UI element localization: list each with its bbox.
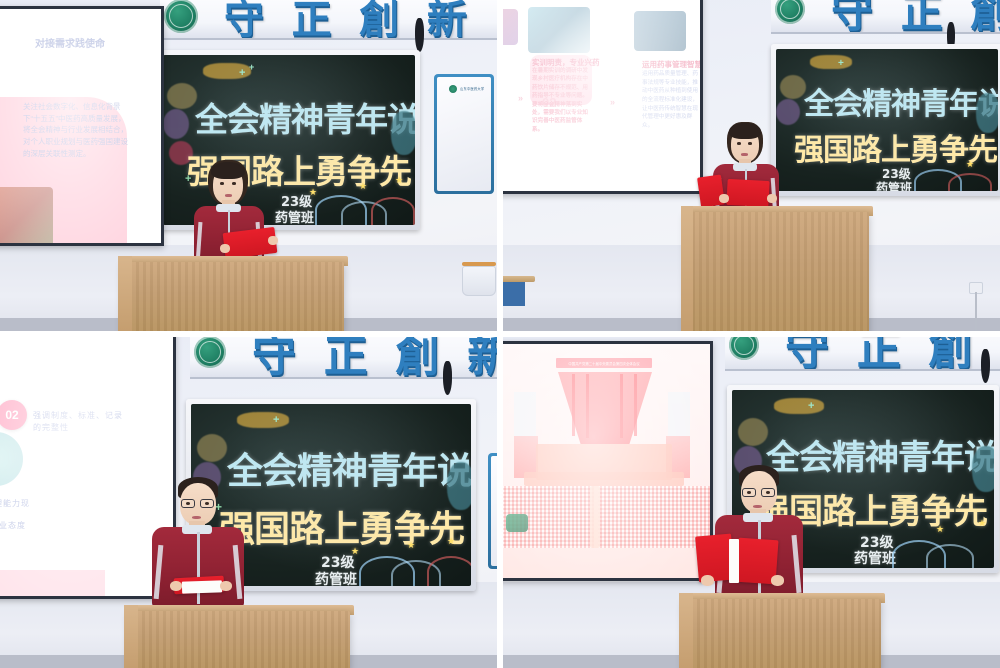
presenter-paper (182, 580, 222, 593)
chalk-blob (197, 434, 227, 462)
banner-char-2: 正 (857, 337, 903, 371)
slide-circle-graphic (0, 432, 23, 486)
slide-photo (634, 11, 686, 51)
chalk-blob (738, 418, 768, 446)
blackboard-class-name: 药管班 (854, 548, 896, 568)
chalk-star: ★ (351, 546, 359, 557)
hall-curtain-fold (620, 374, 623, 438)
microphone-hook-icon (415, 18, 424, 52)
chalk-star: ★ (395, 175, 403, 186)
notice-board[interactable] (488, 453, 497, 569)
slide-top-left: 对接需求践使命 关注社会数字化、信息化背景下“十五五”中医药高质量发展，将全会精… (0, 9, 161, 243)
hall-curtain-fold (634, 374, 637, 436)
side-desk-leg (503, 282, 525, 306)
wall-sink (462, 266, 496, 296)
presenter-mouth (192, 516, 201, 519)
wall-banner: 守 正 創 新 (160, 0, 497, 40)
chalk-blob (810, 55, 852, 69)
presenter-eye-left (220, 182, 224, 185)
microphone-hook-icon (981, 349, 990, 383)
chalk-star: ★ (447, 536, 455, 547)
blackboard-headline-1: 全会精神青年说 (227, 442, 471, 494)
banner-char-1: 守 (224, 0, 266, 40)
chalk-wave (315, 195, 367, 225)
chalk-wave (892, 540, 946, 568)
chalk-wave (371, 197, 415, 225)
projection-screen: 中国共产党第二十届中央委员会第四次全体会议 (503, 341, 713, 581)
wall-banner: 守 正 創 新 (725, 337, 1000, 371)
blackboard: + 全会精神青年说 强国路上勇争先 23级 药管班 ★ (771, 44, 1000, 196)
blackboard-class-year: 23级 (321, 552, 354, 572)
congress-banner-text: 中国共产党第二十届中央委员会第四次全体会议 (568, 361, 639, 366)
chalk-plus: + (838, 58, 844, 69)
blackboard-headline-2: 强国路上勇争先 (794, 125, 997, 169)
presenter-hand-left (719, 194, 729, 203)
blackboard-headline-1: 全会精神青年说 (195, 93, 415, 141)
lectern (683, 599, 881, 668)
chalk-plus: + (249, 62, 254, 72)
presenter-bottom-right (703, 465, 813, 601)
hall-stage-step (524, 472, 684, 486)
presenter-hand-left (701, 575, 714, 586)
chalk-star: ★ (359, 181, 367, 192)
presenter-paper (729, 539, 739, 583)
blackboard-class-name: 药管班 (315, 569, 357, 586)
banner-char-2: 正 (901, 0, 945, 34)
notice-board[interactable]: 山东中医药大学 (434, 74, 494, 194)
blackboard-headline-2: 强国路上勇争先 (219, 500, 464, 552)
school-emblem-icon (194, 337, 226, 368)
presenter-top-left (186, 160, 272, 270)
chalk-wave (427, 556, 471, 586)
lectern-notch (118, 256, 132, 331)
collage-panel-bottom-right[interactable]: 守 正 創 新 + 全会精神青年说 强国路上勇争先 23级 药管班 ★ ★ (503, 337, 1000, 668)
wall-banner: 守 正 創 新 (771, 0, 1000, 34)
presenter-eye-right (232, 182, 236, 185)
chalk-blob (167, 83, 197, 109)
blackboard-class-year: 23级 (882, 165, 911, 182)
photo-collage: 守 正 創 新 + + + 全会精神青年说 强国路上勇争先 23级 药管班 (0, 0, 1000, 668)
slide-photo (528, 7, 590, 53)
presenter-hand-right (220, 581, 232, 591)
chalk-blob (203, 63, 251, 79)
chalk-blob (237, 412, 289, 428)
presenter-eye-left (747, 491, 751, 494)
presenter-mouth (741, 153, 748, 156)
collage-panel-bottom-left[interactable]: 守 正 創 新 + + 全会精神青年说 强国路上勇争先 23级 药管班 ★ (0, 337, 497, 668)
notice-board-title: 山东中医药大学 (460, 86, 484, 91)
broadcast-logo (506, 514, 528, 532)
chalk-star: ★ (978, 518, 986, 529)
banner-char-1: 守 (252, 337, 298, 379)
lectern-notch (679, 593, 693, 668)
lectern (122, 262, 344, 331)
chalk-wave (359, 556, 415, 586)
banner-char-1: 守 (785, 337, 831, 371)
slide-photo (0, 187, 53, 246)
banner-char-3: 創 (929, 337, 975, 371)
slide-title: 对接需求践使命 (35, 35, 105, 50)
chalk-blob (976, 93, 998, 133)
chalk-wave (948, 173, 992, 191)
lectern-notch (124, 605, 138, 668)
lectern (685, 212, 869, 331)
blackboard-headline-1: 全会精神青年说 (804, 79, 998, 123)
presenter-eye-right (205, 502, 209, 505)
presenter-bottom-left (142, 477, 252, 607)
hall-aisle (590, 486, 600, 548)
presenter-mouth (225, 194, 232, 197)
slide-left-badge: 02 (542, 93, 556, 113)
chalk-star: ★ (936, 524, 944, 535)
slide-side-text-2: …专业态度 (0, 520, 26, 532)
chalk-blob (972, 446, 994, 492)
wall-cable (975, 292, 977, 331)
banner-char-4: 新 (467, 337, 497, 379)
chalk-star: ★ (309, 187, 317, 198)
presenter-hand-right (268, 236, 278, 245)
chalk-blob (774, 398, 824, 414)
banner-char-3: 創 (970, 0, 1000, 34)
presenter-folder-right (726, 179, 769, 207)
presenter-top-right (703, 122, 789, 218)
chalk-wave (341, 201, 387, 225)
chalk-star: ★ (966, 159, 974, 170)
hall-curtain-fold (572, 374, 575, 436)
lectern (128, 611, 350, 668)
blackboard-class-year: 23级 (281, 191, 312, 210)
chalk-wave (391, 560, 441, 586)
presenter-eye-right (766, 491, 770, 494)
slide-right-body: 运用药品质量管理、药事法规等专业技能，推动中医药从种植到使用的全流程标准化建设，… (642, 70, 698, 131)
banner-char-4: 新 (427, 0, 469, 40)
chalk-wave (926, 544, 974, 568)
blackboard-class-year: 23级 (860, 532, 893, 552)
banner-char-2: 正 (324, 337, 370, 379)
blackboard-class-name: 药管班 (876, 179, 912, 191)
presenter-hand-right (771, 575, 784, 586)
slide-photo (503, 9, 518, 45)
chalk-plus: + (239, 67, 245, 79)
collage-panel-top-right[interactable]: 守 正 創 新 + 全会精神青年说 强国路上勇争先 23级 药管班 ★ (503, 0, 1000, 331)
banner-char-3: 創 (396, 337, 442, 379)
banner-char-1: 守 (831, 0, 875, 34)
presenter-hand-left (170, 581, 182, 591)
chevron-right-icon: » (518, 93, 523, 103)
chalk-blob (391, 111, 415, 155)
chalk-plus: + (808, 400, 814, 412)
banner-char-3: 創 (359, 0, 401, 40)
school-emblem-icon (729, 337, 759, 360)
projection-screen: 对接需求践使命 关注社会数字化、信息化背景下“十五五”中医药高质量发展，将全会精… (0, 6, 164, 246)
chalk-blob (163, 109, 189, 139)
projection-screen: 实训明责，专业兴药 在暑期实训的调研中发现乡村医疗机构存在中药饮片储存不规范、用… (503, 0, 703, 194)
presenter-eye-left (737, 142, 741, 145)
slide-body: 关注社会数字化、信息化背景下“十五五”中医药高质量发展，将全会精神与行业发展相结… (23, 101, 131, 159)
chevron-right-icon: » (610, 97, 615, 107)
slide-left-body: 在暑期实训的调研中发现乡村医疗机构存在中药饮片储存不规范、用药指导不专业等问题。… (532, 67, 590, 134)
school-emblem-icon (775, 0, 805, 24)
chalk-star: ★ (407, 540, 415, 551)
slide-right-heading: 运用药事管理智慧 (642, 59, 702, 70)
hall-side-panel (514, 392, 536, 442)
school-emblem-icon (164, 0, 198, 33)
slide-heading: 强调制度、标准、记录的完整性 (33, 410, 123, 434)
presenter-hair (729, 123, 761, 139)
banner-char-2: 正 (292, 0, 334, 40)
hall-side-panel (668, 392, 690, 442)
presenter-zipper (197, 532, 200, 604)
hall-curtain-fold (586, 374, 589, 438)
presenter-mouth (753, 505, 762, 508)
chalk-blob (780, 75, 806, 99)
slide-top-right: 实训明责，专业兴药 在暑期实训的调研中发现乡村医疗机构存在中药饮片储存不规范、用… (503, 0, 700, 191)
presenter-eye-right (748, 142, 752, 145)
lectern-notch (681, 206, 693, 331)
slide-side-text-1: …理能力现 (0, 498, 30, 510)
sink-rim (462, 262, 496, 266)
blackboard-class-name: 药管班 (275, 207, 314, 225)
presenter-hair (211, 162, 245, 179)
chalk-blob (447, 462, 471, 510)
presenter-hand-right (767, 194, 777, 203)
slide-badge-02: 02 (0, 400, 27, 430)
chalk-wave (914, 169, 962, 191)
chalk-plus: + (273, 414, 279, 426)
presenter-eye-left (186, 502, 190, 505)
school-logo-icon (449, 85, 457, 93)
slide-accent-band (0, 570, 105, 599)
congress-banner: 中国共产党第二十届中央委员会第四次全体会议 (556, 358, 652, 368)
slide-bottom-right: 中国共产党第二十届中央委员会第四次全体会议 (503, 344, 710, 578)
microphone-hook-icon (443, 361, 452, 395)
presenter-hand-left (220, 244, 230, 253)
collage-panel-top-left[interactable]: 守 正 創 新 + + + 全会精神青年说 强国路上勇争先 23级 药管班 (0, 0, 497, 331)
